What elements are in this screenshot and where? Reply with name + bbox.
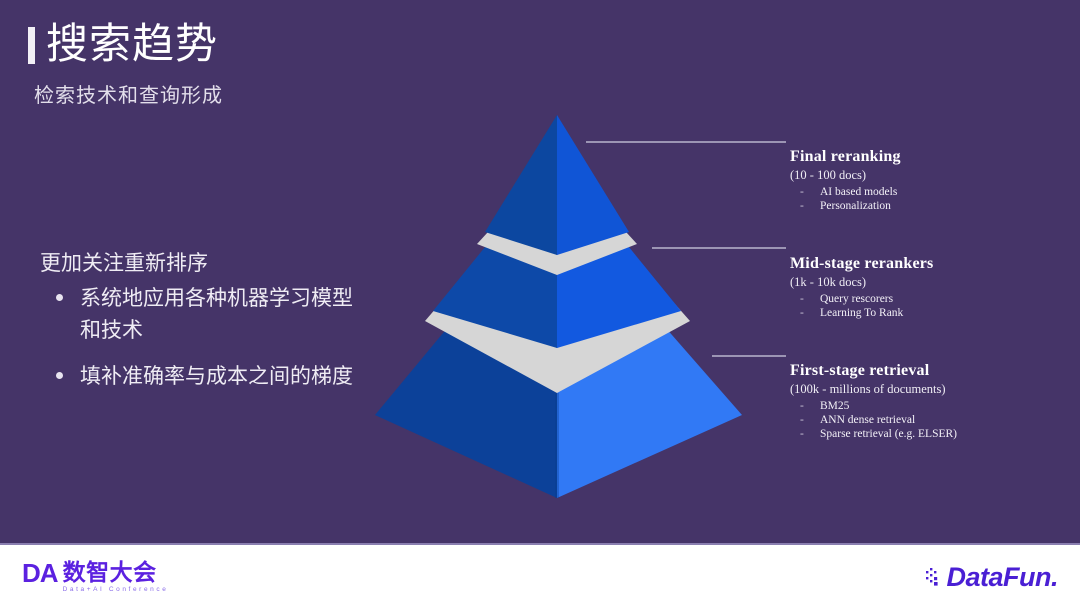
annotation-item: - Sparse retrieval (e.g. ELSER) <box>790 427 1070 441</box>
dash-bullet-icon: - <box>800 399 804 413</box>
pyramid-tier-top-left-face <box>485 115 557 255</box>
leader-line-final-reranking <box>586 141 786 143</box>
annotation-item-list: - AI based models - Personalization <box>790 185 1070 213</box>
page-subtitle: 检索技术和查询形成 <box>34 82 223 110</box>
annotation-item: - Learning To Rank <box>790 306 1070 320</box>
logo-name-cn: 数智大会 <box>63 560 169 585</box>
annotation-item-label: BM25 <box>820 400 849 412</box>
slide-root: 搜索趋势 检索技术和查询形成 更加关注重新排序 系统地应用各种机器学习模型和技术… <box>0 0 1080 607</box>
annotation-scale: (10 - 100 docs) <box>790 167 1070 184</box>
annotation-scale: (1k - 10k docs) <box>790 274 1070 291</box>
annotation-item-label: ANN dense retrieval <box>820 414 915 426</box>
annotation-item-label: AI based models <box>820 186 897 198</box>
annotation-title: First-stage retrieval <box>790 361 1070 381</box>
annotation-title: Mid-stage rerankers <box>790 254 1070 274</box>
pyramid-diagram <box>370 110 790 510</box>
annotation-item: - Query rescorers <box>790 292 1070 306</box>
annotation-item-list: - BM25 - ANN dense retrieval - Sparse re… <box>790 399 1070 441</box>
dot-cluster-icon <box>925 566 945 588</box>
annotation-title: Final reranking <box>790 147 1070 167</box>
page-title: 搜索趋势 <box>46 18 218 72</box>
pyramid-tier-top-right-face <box>557 115 629 255</box>
list-item-label: 系统地应用各种机器学习模型和技术 <box>80 286 353 342</box>
annotation-item-label: Personalization <box>820 200 891 212</box>
annotation-item: - Personalization <box>790 199 1070 213</box>
annotation-final-reranking: Final reranking (10 - 100 docs) - AI bas… <box>790 147 1070 213</box>
annotation-scale: (100k - millions of documents) <box>790 381 1070 398</box>
logo-da-mark: DA <box>22 560 58 587</box>
body-lead-text: 更加关注重新排序 <box>40 248 208 278</box>
pyramid-center-edge <box>555 393 559 498</box>
annotation-mid-stage-rerankers: Mid-stage rerankers (1k - 10k docs) - Qu… <box>790 254 1070 320</box>
annotation-item: - AI based models <box>790 185 1070 199</box>
annotation-item-list: - Query rescorers - Learning To Rank <box>790 292 1070 320</box>
leader-line-mid-stage <box>652 247 786 249</box>
footer-divider <box>0 543 1080 545</box>
conference-logo: DA 数智大会 Data+AI Conference <box>22 560 168 598</box>
dash-bullet-icon: - <box>800 185 804 199</box>
annotation-item: - BM25 <box>790 399 1070 413</box>
bullet-dot-icon <box>56 372 63 379</box>
leader-line-first-stage <box>712 355 786 357</box>
annotation-first-stage-retrieval: First-stage retrieval (100k - millions o… <box>790 361 1070 441</box>
dash-bullet-icon: - <box>800 199 804 213</box>
annotation-item: - ANN dense retrieval <box>790 413 1070 427</box>
datafun-wordmark: DataFun. <box>946 562 1058 592</box>
dash-bullet-icon: - <box>800 306 804 320</box>
logo-name-en: Data+AI Conference <box>63 585 169 594</box>
list-item-label: 填补准确率与成本之间的梯度 <box>80 364 353 388</box>
body-bullet-list: 系统地应用各种机器学习模型和技术 填补准确率与成本之间的梯度 <box>48 282 358 406</box>
datafun-logo: DataFun. <box>925 562 1058 592</box>
title-accent-bar <box>28 27 35 64</box>
list-item: 填补准确率与成本之间的梯度 <box>48 360 358 392</box>
dash-bullet-icon: - <box>800 413 804 427</box>
annotation-item-label: Sparse retrieval (e.g. ELSER) <box>820 428 957 440</box>
dash-bullet-icon: - <box>800 427 804 441</box>
dash-bullet-icon: - <box>800 292 804 306</box>
annotation-item-label: Learning To Rank <box>820 307 903 319</box>
list-item: 系统地应用各种机器学习模型和技术 <box>48 282 358 346</box>
annotation-item-label: Query rescorers <box>820 293 893 305</box>
logo-name-block: 数智大会 Data+AI Conference <box>63 560 169 594</box>
bullet-dot-icon <box>56 294 63 301</box>
